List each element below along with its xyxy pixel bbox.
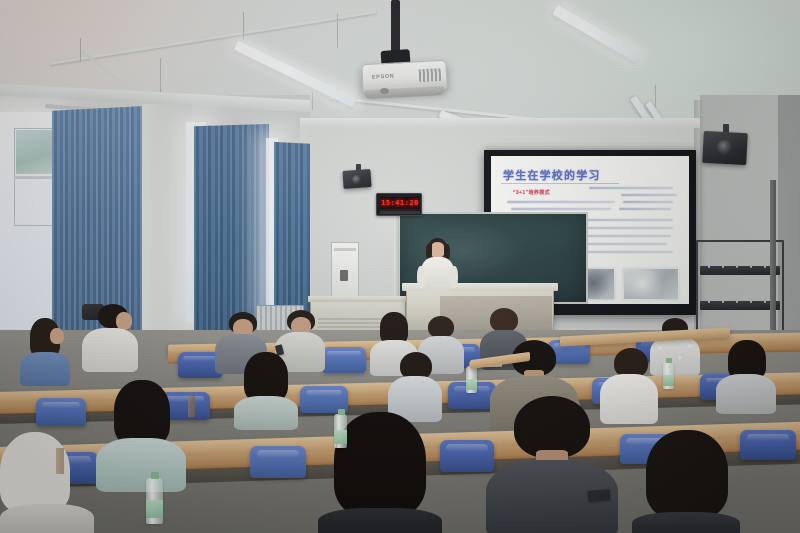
water-bottle-c2 xyxy=(334,414,347,448)
light-wire-4 xyxy=(337,14,338,48)
audience-person-c3 xyxy=(486,396,620,533)
projector-mount-pole xyxy=(391,0,400,54)
person-b4-torso xyxy=(716,374,776,414)
audience-person-a1 xyxy=(18,318,70,384)
slide-body-line-3 xyxy=(507,201,615,203)
audience-person-b1 xyxy=(234,352,300,428)
person-c1-torso xyxy=(96,438,186,492)
person-a1-torso xyxy=(20,352,70,386)
light-wire-8 xyxy=(655,85,656,107)
slide-body-line-1 xyxy=(589,187,673,189)
slide-title-underline xyxy=(501,183,619,184)
desk-leg-1 xyxy=(188,395,195,417)
projector-vent xyxy=(419,68,442,82)
led-clock-screen: 15:41:20 xyxy=(380,197,420,209)
person-c3-hair xyxy=(514,396,590,458)
presenter xyxy=(415,238,459,292)
person-c4-hair xyxy=(646,430,728,518)
water-bottle-b1 xyxy=(466,366,477,393)
person-c2-torso xyxy=(318,508,442,533)
phone-foreground xyxy=(588,489,611,502)
presenter-arm-left xyxy=(417,266,426,288)
bottle-label-b1 xyxy=(466,379,477,390)
audience-person-a2 xyxy=(82,304,140,372)
projector-lens xyxy=(380,88,389,94)
person-a1-head xyxy=(50,328,64,344)
chalkboard-left-edge xyxy=(394,212,399,304)
person-a7-hair xyxy=(490,308,518,332)
light-wire-6 xyxy=(312,92,313,110)
bottle-cap-c2 xyxy=(338,409,345,415)
person-c4-torso xyxy=(632,512,740,533)
rack-hook-2 xyxy=(722,263,724,268)
bottle-cap-c1 xyxy=(151,472,159,479)
chair-c5[interactable] xyxy=(740,430,796,460)
person-c5-torso xyxy=(0,504,94,533)
rack-hook-10 xyxy=(764,298,766,303)
led-clock: 15:41:20 xyxy=(376,193,422,216)
rack-hook-9 xyxy=(750,298,752,303)
slide-body-line-2 xyxy=(621,194,677,196)
slide-body-line-6 xyxy=(619,208,671,210)
slide-photo-3 xyxy=(623,268,679,300)
classroom-photo: EPSON 学生在学校的学习 “3+1”培养模式 xyxy=(0,0,800,533)
audience-person-c4 xyxy=(632,430,742,533)
window-view-foliage xyxy=(16,130,56,174)
presenter-head xyxy=(430,242,445,258)
slide-body-line-4 xyxy=(623,201,673,203)
speaker-left-cone xyxy=(352,175,362,185)
speaker-left xyxy=(342,169,371,189)
audience-person-c1 xyxy=(96,380,188,490)
person-c2-hair xyxy=(334,412,426,516)
person-b1-hair xyxy=(244,352,288,402)
rack-hook-4 xyxy=(750,263,752,268)
desk-leg-2 xyxy=(56,448,64,474)
person-c1-hair xyxy=(114,380,170,446)
slide-title: 学生在学校的学习 xyxy=(503,167,601,183)
speaker-right xyxy=(702,131,748,165)
chair-a2[interactable] xyxy=(322,347,366,373)
person-a6-hair xyxy=(428,316,454,338)
water-bottle-c1 xyxy=(146,478,163,524)
projector-brand-label: EPSON xyxy=(372,74,395,81)
audience-person-c5 xyxy=(0,432,96,533)
audience-person-b4 xyxy=(716,340,778,412)
rack-hook-7 xyxy=(722,298,724,303)
speaker-right-cone xyxy=(717,140,733,156)
bottle-label-b2 xyxy=(663,375,674,386)
panel-switch xyxy=(340,270,348,281)
bottle-label-c1 xyxy=(146,500,163,518)
chair-c2[interactable] xyxy=(250,446,306,478)
wall-pillar-left xyxy=(142,104,192,354)
window-mullion-left xyxy=(14,176,58,179)
person-a2-torso xyxy=(82,328,138,372)
person-b1-torso xyxy=(234,396,298,430)
bottle-label-c2 xyxy=(334,430,347,444)
wall-rack-bar-top xyxy=(700,266,780,275)
panel-label-strip xyxy=(334,248,356,251)
light-wire-2 xyxy=(160,58,161,96)
rack-hook-5 xyxy=(764,263,766,268)
presenter-arm-right xyxy=(449,266,458,288)
water-bottle-b2 xyxy=(663,362,674,389)
wall-soffit xyxy=(300,118,700,128)
light-wire-3 xyxy=(243,12,244,40)
slide-heading-1: “3+1”培养模式 xyxy=(513,189,550,196)
cabinet-top xyxy=(308,296,408,302)
slide-body-line-5 xyxy=(511,208,611,210)
led-clock-text: 15:41:20 xyxy=(381,199,419,207)
bottle-cap-b2 xyxy=(666,358,672,363)
rack-hook-3 xyxy=(736,263,738,268)
chair-b1[interactable] xyxy=(36,398,86,426)
rack-hook-8 xyxy=(736,298,738,303)
rack-hook-1 xyxy=(708,263,710,268)
wall-rack-bar-bottom xyxy=(700,301,780,310)
rack-hook-6 xyxy=(708,298,710,303)
led-clock-footer xyxy=(380,211,420,214)
curtain-panel-3[interactable] xyxy=(274,140,310,330)
light-wire-1 xyxy=(80,38,81,62)
